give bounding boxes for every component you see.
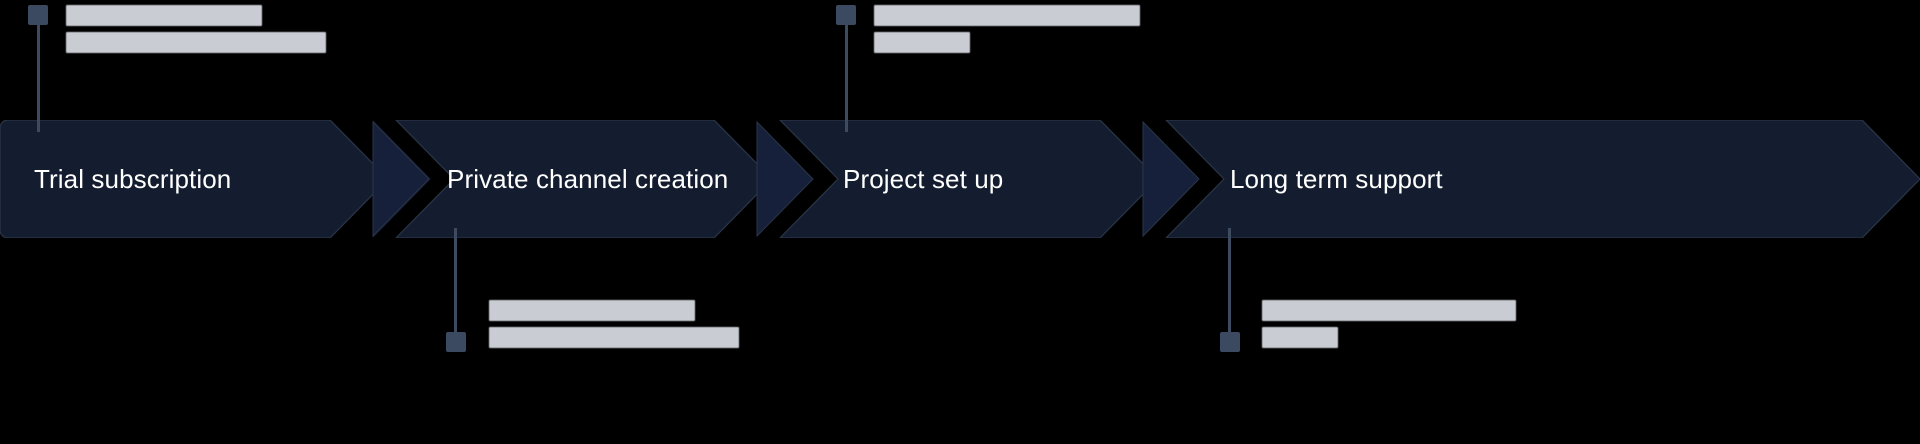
chevron-step-2 <box>396 120 772 238</box>
callout-text-line <box>489 327 739 348</box>
callout-marker-3 <box>836 5 856 25</box>
callout-text-1 <box>66 5 326 53</box>
callout-text-line <box>874 32 970 53</box>
callout-marker-4 <box>1220 332 1240 352</box>
callout-connector-1 <box>37 22 40 132</box>
diagram-canvas: Trial subscription Private channel creat… <box>0 0 1920 444</box>
chevron-step-3 <box>780 120 1158 238</box>
chevron-step-4 <box>1166 120 1920 238</box>
callout-text-line <box>1262 327 1338 348</box>
callout-text-line <box>66 5 262 26</box>
callout-connector-4 <box>1228 228 1231 338</box>
callout-text-line <box>489 300 695 321</box>
callout-marker-1 <box>28 5 48 25</box>
callout-text-2 <box>489 300 739 348</box>
callout-connector-2 <box>454 228 457 338</box>
callout-text-4 <box>1262 300 1516 348</box>
callout-connector-3 <box>845 22 848 132</box>
callout-text-line <box>66 32 326 53</box>
callout-text-line <box>874 5 1140 26</box>
callout-marker-2 <box>446 332 466 352</box>
callout-text-3 <box>874 5 1140 53</box>
process-flow-band <box>0 120 1920 238</box>
callout-text-line <box>1262 300 1516 321</box>
chevron-step-1 <box>0 120 388 238</box>
